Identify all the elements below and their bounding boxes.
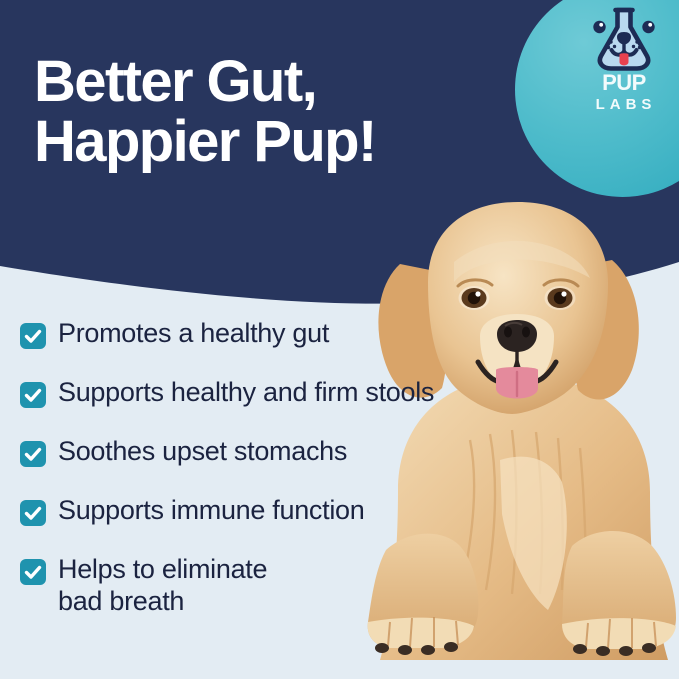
- benefit-label: Soothes upset stomachs: [58, 436, 347, 468]
- brand-lockup: PUP LABS: [565, 6, 679, 112]
- page-title: Better Gut, Happier Pup!: [34, 52, 504, 171]
- checkmark-box-icon: [20, 323, 46, 349]
- headline-line-2: Happier Pup!: [34, 112, 504, 172]
- list-item: Supports immune function: [20, 495, 520, 531]
- list-item: Helps to eliminate bad breath: [20, 554, 520, 617]
- benefit-label: Promotes a healthy gut: [58, 318, 329, 350]
- benefit-label: Helps to eliminate bad breath: [58, 554, 267, 617]
- benefit-label: Supports immune function: [58, 495, 364, 527]
- brand-name-primary: PUP: [565, 67, 679, 94]
- headline-line-1: Better Gut,: [34, 52, 504, 112]
- brand-name-secondary: LABS: [565, 97, 679, 112]
- checkmark-box-icon: [20, 382, 46, 408]
- list-item: Supports healthy and firm stools: [20, 377, 520, 413]
- list-item: Soothes upset stomachs: [20, 436, 520, 472]
- product-benefits-card: Better Gut, Happier Pup!: [0, 0, 679, 679]
- pup-labs-badge[interactable]: PUP LABS: [515, 0, 679, 197]
- checkmark-box-icon: [20, 500, 46, 526]
- checkmark-box-icon: [20, 441, 46, 467]
- list-item: Promotes a healthy gut: [20, 318, 520, 354]
- benefit-label: Supports healthy and firm stools: [58, 377, 434, 409]
- checkmark-box-icon: [20, 559, 46, 585]
- benefits-list: Promotes a healthy gut Supports healthy …: [20, 318, 520, 617]
